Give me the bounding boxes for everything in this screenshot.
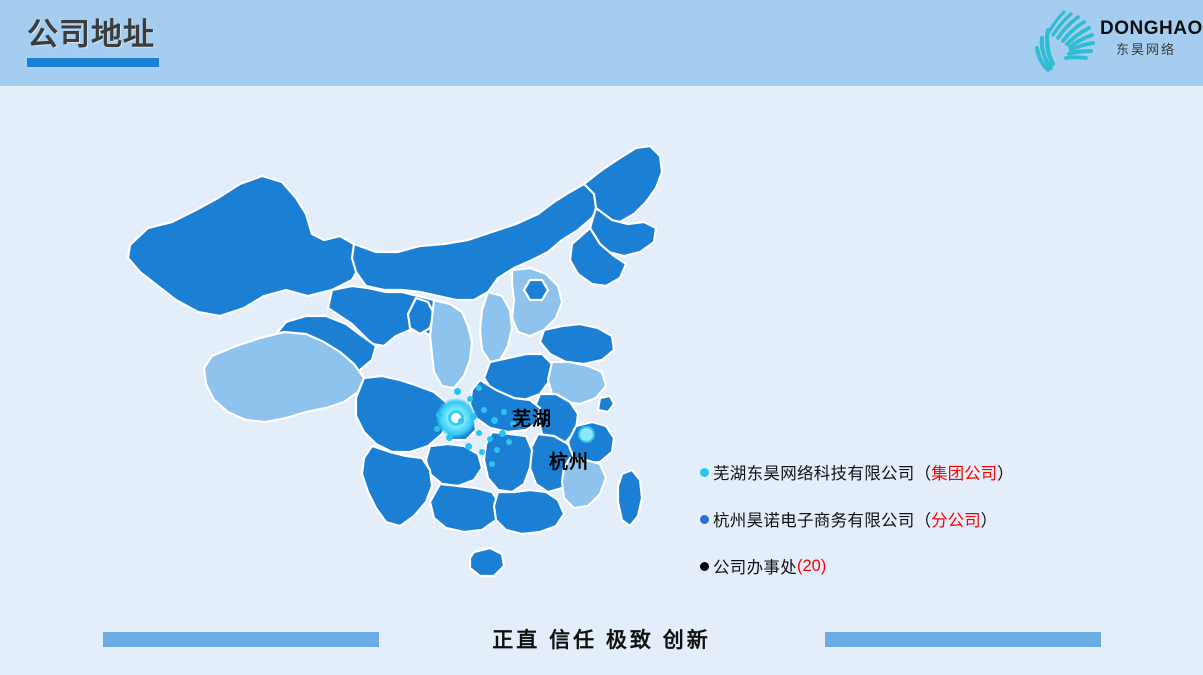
province-guizhou (426, 444, 482, 486)
province-taiwan (618, 470, 642, 526)
legend-item-branch-company[interactable]: 杭州昊诺电子商务有限公司 （ 分公司 ） (700, 507, 1100, 531)
province-shanghai (598, 396, 614, 412)
legend-paren-close: ） (997, 460, 1014, 484)
legend-paren-close: ） (981, 507, 998, 531)
office-dot[interactable] (476, 430, 482, 436)
legend-bullet-black (700, 562, 709, 571)
province-hebei (512, 268, 562, 336)
office-dot[interactable] (494, 447, 500, 453)
legend-paren-open: （ (915, 507, 932, 531)
province-beijing (524, 280, 548, 300)
office-dot[interactable] (487, 436, 493, 442)
legend-bullet-cyan (700, 468, 709, 477)
province-yunnan (362, 446, 432, 526)
province-hainan (470, 548, 504, 576)
slide-header: 公司地址 (0, 0, 1203, 86)
office-dot[interactable] (470, 413, 477, 420)
footer-bar-right (825, 632, 1101, 647)
province-shanxi (480, 292, 512, 362)
feather-logo-icon (1034, 8, 1102, 74)
legend-label-hangzhou-company: 杭州昊诺电子商务有限公司 (713, 507, 915, 531)
city-label-hangzhou: 杭州 (549, 447, 589, 474)
province-inner-mongolia (352, 184, 600, 300)
office-dot[interactable] (436, 412, 442, 418)
province-guangxi (430, 484, 500, 532)
legend-item-group-company[interactable]: 芜湖东昊网络科技有限公司 （ 集团公司 ） (700, 460, 1100, 484)
office-dot[interactable] (434, 426, 440, 432)
city-label-wuhu: 芜湖 (512, 404, 552, 431)
office-dot[interactable] (465, 443, 472, 450)
province-guangdong (494, 490, 564, 534)
china-map[interactable] (100, 140, 680, 610)
office-dot[interactable] (506, 439, 512, 445)
office-dot[interactable] (491, 417, 498, 424)
legend-label-offices: 公司办事处 (713, 554, 797, 578)
office-dot[interactable] (501, 409, 507, 415)
office-dot[interactable] (467, 396, 473, 402)
legend-label-wuhu-company: 芜湖东昊网络科技有限公司 (713, 460, 915, 484)
brand-logo[interactable]: DONGHAO 东昊网络 (1026, 6, 1191, 78)
office-dot[interactable] (458, 418, 464, 424)
province-shandong (540, 324, 614, 364)
legend-item-offices[interactable]: 公司办事处 (20) (700, 554, 1100, 578)
office-dot[interactable] (489, 461, 495, 467)
office-dot[interactable] (476, 385, 482, 391)
page-title-underline (27, 58, 159, 67)
logo-wordmark: DONGHAO 东昊网络 (1100, 18, 1192, 59)
logo-english-name: DONGHAO (1100, 18, 1192, 40)
legend-tag-office-count: (20) (797, 557, 826, 576)
office-dot[interactable] (479, 449, 485, 455)
legend-tag-group-company: 集团公司 (931, 460, 997, 484)
province-xinjiang (128, 176, 362, 316)
province-shaanxi (430, 300, 472, 388)
map-legend: 芜湖东昊网络科技有限公司 （ 集团公司 ） 杭州昊诺电子商务有限公司 （ 分公司… (700, 460, 1100, 601)
office-dot[interactable] (499, 430, 506, 437)
marker-hangzhou-branch[interactable] (578, 426, 595, 443)
logo-chinese-name: 东昊网络 (1100, 41, 1192, 59)
page-title-block: 公司地址 (27, 17, 159, 67)
legend-tag-branch-company: 分公司 (931, 507, 981, 531)
office-dot[interactable] (481, 407, 487, 413)
office-dot[interactable] (454, 388, 461, 395)
legend-bullet-blue (700, 515, 709, 524)
office-dot[interactable] (446, 434, 453, 441)
page-title: 公司地址 (27, 17, 159, 53)
slide-root: 公司地址 (0, 0, 1203, 675)
legend-paren-open: （ (915, 460, 932, 484)
